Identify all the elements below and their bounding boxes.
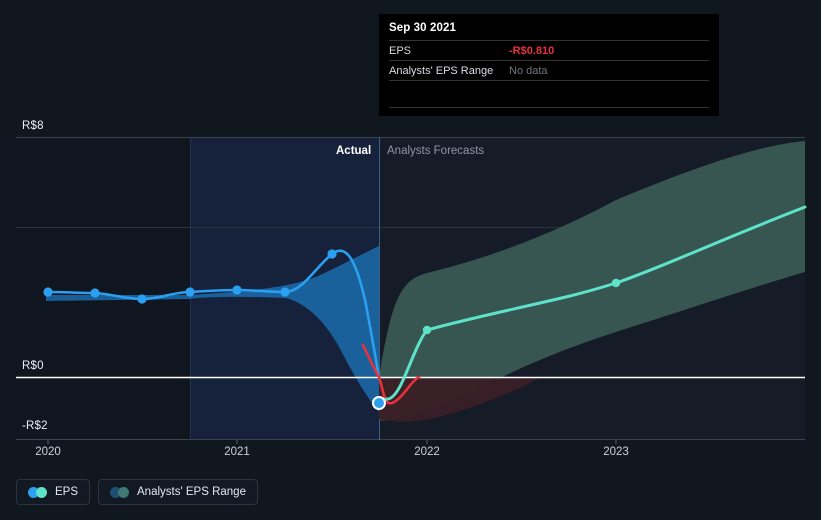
chart-legend: EPS Analysts' EPS Range [16, 479, 258, 505]
eps-chart-widget: R$8 R$0 -R$2 2020 2021 2022 2023 Actual … [0, 0, 821, 520]
y-axis-label-zero: R$0 [22, 360, 44, 372]
tooltip-key-range: Analysts' EPS Range [389, 65, 509, 77]
tooltip-spacer [389, 81, 709, 108]
tooltip-value-eps: -R$0.810 [509, 45, 709, 57]
eps-highlight-point[interactable] [373, 397, 385, 409]
legend-item-eps[interactable]: EPS [16, 479, 90, 505]
eps-point [232, 285, 241, 294]
x-axis-label-2023: 2023 [603, 446, 629, 458]
tooltip-key-eps: EPS [389, 45, 509, 57]
legend-label-eps: EPS [55, 486, 78, 498]
legend-swatch-eps-icon [28, 487, 48, 498]
eps-point [43, 287, 52, 296]
tooltip-title: Sep 30 2021 [389, 22, 709, 41]
region-label-forecast: Analysts Forecasts [387, 145, 484, 157]
legend-item-analysts-range[interactable]: Analysts' EPS Range [98, 479, 258, 505]
y-axis-label-top: R$8 [22, 120, 44, 132]
tooltip-row-eps: EPS -R$0.810 [389, 41, 709, 61]
x-axis-label-2020: 2020 [35, 446, 61, 458]
eps-point [185, 287, 194, 296]
x-axis-label-2021: 2021 [224, 446, 250, 458]
tooltip-row-range: Analysts' EPS Range No data [389, 61, 709, 81]
chart-tooltip: Sep 30 2021 EPS -R$0.810 Analysts' EPS R… [379, 14, 719, 116]
tooltip-value-range: No data [509, 65, 709, 77]
legend-swatch-range-icon [110, 487, 130, 498]
eps-forecast-point [423, 326, 431, 334]
legend-label-analysts-range: Analysts' EPS Range [137, 486, 246, 498]
eps-point [280, 287, 289, 296]
region-label-actual: Actual [336, 145, 371, 157]
eps-point [327, 249, 336, 258]
x-axis-label-2022: 2022 [414, 446, 440, 458]
eps-point [137, 294, 146, 303]
eps-point [90, 288, 99, 297]
y-axis-label-bottom: -R$2 [22, 420, 48, 432]
eps-forecast-point [612, 279, 620, 287]
